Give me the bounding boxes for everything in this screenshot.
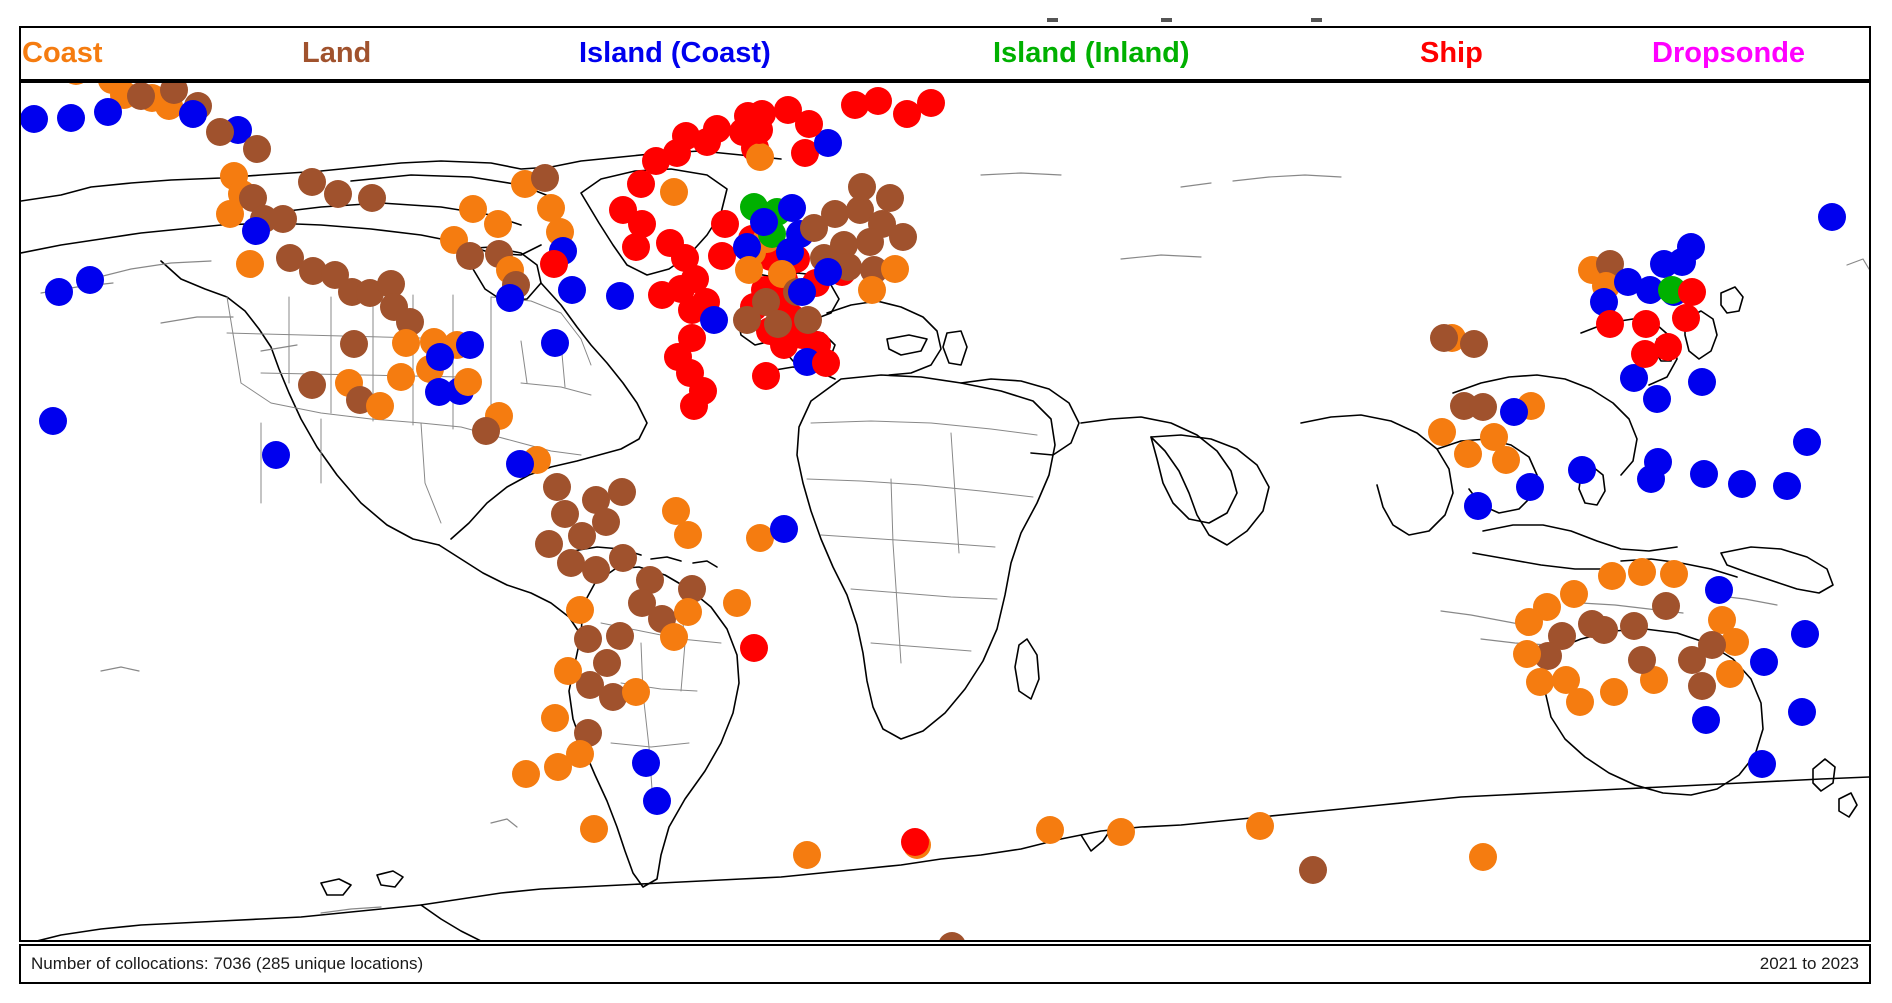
map-data-point[interactable]: [1460, 330, 1488, 358]
map-data-point[interactable]: [723, 589, 751, 617]
map-data-point[interactable]: [1246, 812, 1274, 840]
map-data-point[interactable]: [1620, 364, 1648, 392]
map-data-point[interactable]: [1568, 456, 1596, 484]
map-data-point[interactable]: [1688, 672, 1716, 700]
map-data-point[interactable]: [864, 87, 892, 115]
map-data-point[interactable]: [1516, 473, 1544, 501]
world-map-panel[interactable]: [19, 81, 1871, 942]
map-data-point[interactable]: [1469, 843, 1497, 871]
map-data-point[interactable]: [484, 210, 512, 238]
map-data-point[interactable]: [711, 210, 739, 238]
map-data-point[interactable]: [269, 205, 297, 233]
map-data-point[interactable]: [1526, 668, 1554, 696]
map-data-point[interactable]: [358, 184, 386, 212]
map-data-point[interactable]: [889, 223, 917, 251]
map-data-point[interactable]: [94, 98, 122, 126]
collocations-count: Number of collocations: 7036 (285 unique…: [31, 954, 423, 974]
map-data-point[interactable]: [324, 180, 352, 208]
map-data-point[interactable]: [76, 266, 104, 294]
scatter-points-layer: [21, 83, 1869, 940]
map-data-point[interactable]: [1500, 398, 1528, 426]
map-data-point[interactable]: [298, 168, 326, 196]
map-data-point[interactable]: [1705, 576, 1733, 604]
map-data-point[interactable]: [1513, 640, 1541, 668]
map-data-point[interactable]: [812, 349, 840, 377]
map-data-point[interactable]: [917, 89, 945, 117]
legend-coast[interactable]: Coast: [22, 38, 103, 67]
map-data-point[interactable]: [901, 828, 929, 856]
map-data-point[interactable]: [609, 544, 637, 572]
map-data-point[interactable]: [1107, 818, 1135, 846]
map-data-point[interactable]: [778, 194, 806, 222]
map-data-point[interactable]: [459, 195, 487, 223]
map-data-point[interactable]: [568, 522, 596, 550]
map-data-point[interactable]: [795, 110, 823, 138]
map-data-point[interactable]: [648, 281, 676, 309]
map-data-point[interactable]: [672, 122, 700, 150]
map-data-point[interactable]: [606, 622, 634, 650]
legend-ship[interactable]: Ship: [1420, 38, 1483, 67]
map-data-point[interactable]: [1566, 688, 1594, 716]
map-data-point[interactable]: [770, 515, 798, 543]
map-data-point[interactable]: [622, 678, 650, 706]
map-data-point[interactable]: [814, 258, 842, 286]
map-data-point[interactable]: [298, 371, 326, 399]
map-data-point[interactable]: [179, 100, 207, 128]
map-data-point[interactable]: [881, 255, 909, 283]
map-data-point[interactable]: [1791, 620, 1819, 648]
map-data-point[interactable]: [746, 143, 774, 171]
map-data-point[interactable]: [680, 392, 708, 420]
map-data-point[interactable]: [243, 135, 271, 163]
legend-land[interactable]: Land: [302, 38, 371, 67]
map-data-point[interactable]: [387, 363, 415, 391]
tick-marks-row: [0, 0, 1892, 26]
map-data-point[interactable]: [660, 623, 688, 651]
map-data-point[interactable]: [1631, 340, 1659, 368]
map-data-point[interactable]: [582, 556, 610, 584]
map-data-point[interactable]: [708, 242, 736, 270]
map-data-point[interactable]: [1692, 706, 1720, 734]
map-data-point[interactable]: [856, 228, 884, 256]
map-data-point[interactable]: [733, 306, 761, 334]
map-data-point[interactable]: [674, 521, 702, 549]
map-data-point[interactable]: [366, 392, 394, 420]
map-data-point[interactable]: [540, 250, 568, 278]
map-data-point[interactable]: [425, 378, 453, 406]
legend-island-inland[interactable]: Island (Inland): [993, 38, 1190, 67]
status-bar: Number of collocations: 7036 (285 unique…: [19, 944, 1871, 984]
map-data-point[interactable]: [793, 841, 821, 869]
map-data-point[interactable]: [788, 278, 816, 306]
map-data-point[interactable]: [848, 173, 876, 201]
map-data-point[interactable]: [392, 329, 420, 357]
map-data-point[interactable]: [1688, 368, 1716, 396]
map-data-point[interactable]: [580, 815, 608, 843]
map-data-point[interactable]: [541, 704, 569, 732]
tick-mark: [1161, 18, 1172, 22]
map-data-point[interactable]: [1788, 698, 1816, 726]
map-data-point[interactable]: [752, 362, 780, 390]
map-data-point[interactable]: [735, 256, 763, 284]
map-data-point[interactable]: [592, 508, 620, 536]
map-data-point[interactable]: [1492, 446, 1520, 474]
map-data-point[interactable]: [858, 276, 886, 304]
date-range-label: 2021 to 2023: [1760, 954, 1859, 974]
map-data-point[interactable]: [1632, 310, 1660, 338]
map-data-point[interactable]: [606, 282, 634, 310]
map-data-point[interactable]: [745, 116, 773, 144]
map-data-point[interactable]: [1773, 472, 1801, 500]
map-data-point[interactable]: [1643, 385, 1671, 413]
map-data-point[interactable]: [794, 306, 822, 334]
map-data-point[interactable]: [1430, 324, 1458, 352]
map-data-point[interactable]: [1428, 418, 1456, 446]
map-data-point[interactable]: [566, 596, 594, 624]
map-data-point[interactable]: [541, 329, 569, 357]
map-data-point[interactable]: [512, 760, 540, 788]
map-data-point[interactable]: [557, 549, 585, 577]
map-data-point[interactable]: [20, 105, 48, 133]
map-data-point[interactable]: [1678, 278, 1706, 306]
map-data-point[interactable]: [764, 310, 792, 338]
legend-island-coast[interactable]: Island (Coast): [579, 38, 771, 67]
map-data-point[interactable]: [57, 104, 85, 132]
map-data-point[interactable]: [236, 250, 264, 278]
map-data-point[interactable]: [1728, 470, 1756, 498]
map-data-point[interactable]: [543, 473, 571, 501]
map-data-point[interactable]: [1793, 428, 1821, 456]
map-data-point[interactable]: [45, 278, 73, 306]
map-data-point[interactable]: [456, 331, 484, 359]
map-data-point[interactable]: [1690, 460, 1718, 488]
map-data-point[interactable]: [426, 343, 454, 371]
map-data-point[interactable]: [206, 118, 234, 146]
map-data-point[interactable]: [1678, 646, 1706, 674]
map-data-point[interactable]: [876, 184, 904, 212]
map-data-point[interactable]: [554, 657, 582, 685]
map-data-point[interactable]: [1628, 558, 1656, 586]
map-data-point[interactable]: [456, 242, 484, 270]
map-data-point[interactable]: [472, 417, 500, 445]
map-data-point[interactable]: [496, 284, 524, 312]
map-data-point[interactable]: [1454, 440, 1482, 468]
map-data-point[interactable]: [1716, 660, 1744, 688]
map-data-point[interactable]: [242, 217, 270, 245]
map-data-point[interactable]: [1469, 393, 1497, 421]
map-data-point[interactable]: [660, 178, 688, 206]
map-data-point[interactable]: [1596, 310, 1624, 338]
map-data-point[interactable]: [262, 441, 290, 469]
map-data-point[interactable]: [544, 753, 572, 781]
map-data-point[interactable]: [1515, 608, 1543, 636]
map-data-point[interactable]: [632, 749, 660, 777]
map-data-point[interactable]: [127, 82, 155, 110]
map-data-point[interactable]: [1818, 203, 1846, 231]
map-data-point[interactable]: [1748, 750, 1776, 778]
tick-mark: [1047, 18, 1058, 22]
map-data-point[interactable]: [703, 115, 731, 143]
map-data-point[interactable]: [1750, 648, 1778, 676]
map-data-point[interactable]: [700, 306, 728, 334]
map-data-point[interactable]: [608, 478, 636, 506]
map-data-point[interactable]: [643, 787, 671, 815]
map-data-point[interactable]: [1464, 492, 1492, 520]
map-data-point[interactable]: [506, 450, 534, 478]
map-data-point[interactable]: [740, 634, 768, 662]
map-data-point[interactable]: [531, 164, 559, 192]
map-data-point[interactable]: [938, 932, 966, 942]
map-data-point[interactable]: [1652, 592, 1680, 620]
map-data-point[interactable]: [454, 368, 482, 396]
map-data-point[interactable]: [622, 233, 650, 261]
map-data-point[interactable]: [1644, 448, 1672, 476]
map-data-point[interactable]: [1560, 580, 1588, 608]
map-data-point[interactable]: [1672, 304, 1700, 332]
legend-panel: CoastLandIsland (Coast)Island (Inland)Sh…: [19, 26, 1871, 81]
map-data-point[interactable]: [62, 81, 90, 85]
map-data-point[interactable]: [1600, 678, 1628, 706]
map-data-point[interactable]: [750, 208, 778, 236]
map-figure: CoastLandIsland (Coast)Island (Inland)Sh…: [0, 0, 1892, 1003]
map-data-point[interactable]: [558, 276, 586, 304]
tick-mark: [1311, 18, 1322, 22]
map-data-point[interactable]: [1299, 856, 1327, 884]
map-data-point[interactable]: [39, 407, 67, 435]
map-data-point[interactable]: [1677, 233, 1705, 261]
legend-dropsonde[interactable]: Dropsonde: [1652, 38, 1805, 67]
map-data-point[interactable]: [821, 200, 849, 228]
map-data-point[interactable]: [574, 625, 602, 653]
map-data-point[interactable]: [1660, 560, 1688, 588]
map-data-point[interactable]: [674, 598, 702, 626]
map-data-point[interactable]: [1036, 816, 1064, 844]
map-data-point[interactable]: [1620, 612, 1648, 640]
map-data-point[interactable]: [1628, 646, 1656, 674]
map-data-point[interactable]: [1598, 562, 1626, 590]
map-data-point[interactable]: [340, 330, 368, 358]
map-data-point[interactable]: [1590, 616, 1618, 644]
